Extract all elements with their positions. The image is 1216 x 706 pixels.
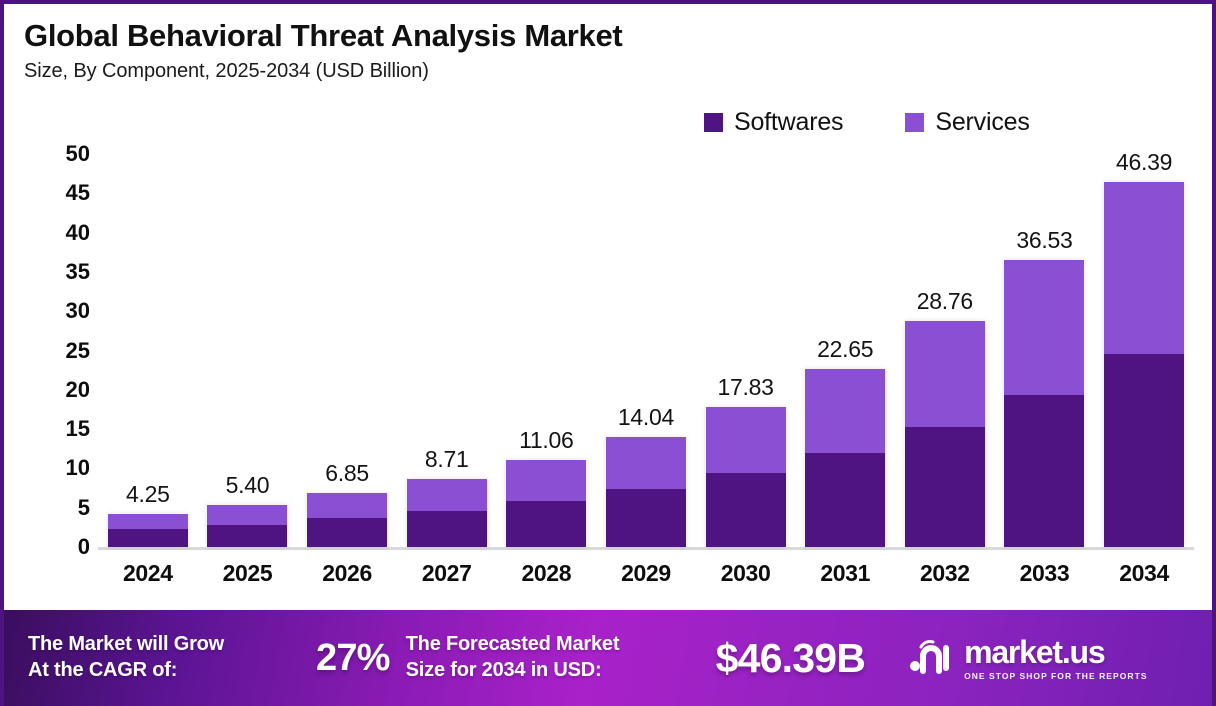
x-axis-tick: 2033 [998, 560, 1090, 594]
logo-text: market.us ONE STOP SHOP FOR THE REPORTS [964, 636, 1147, 681]
chart-infographic: Global Behavioral Threat Analysis Market… [0, 0, 1216, 706]
y-axis-tick: 20 [66, 377, 90, 403]
bar-value-label: 17.83 [718, 374, 774, 401]
bar-value-label: 14.04 [618, 404, 674, 431]
y-axis-tick: 5 [78, 495, 90, 521]
bar-group[interactable]: 4.25 [102, 122, 194, 547]
stacked-bar[interactable] [407, 479, 487, 547]
y-axis-tick: 15 [66, 416, 90, 442]
bar-group[interactable]: 46.39 [1098, 122, 1190, 547]
bar-value-label: 4.25 [126, 481, 170, 508]
bar-segment-softwares[interactable] [307, 518, 387, 547]
y-axis-tick: 35 [66, 259, 90, 285]
bar-segment-softwares[interactable] [805, 453, 885, 547]
cagr-caption-line1: The Market will Grow [28, 632, 308, 658]
bar-value-label: 8.71 [425, 446, 469, 473]
forecast-value: $46.39B [716, 635, 865, 682]
bar-segment-services[interactable] [207, 505, 287, 525]
bar-segment-softwares[interactable] [506, 501, 586, 547]
x-axis-tick: 2032 [899, 560, 991, 594]
x-axis-tick: 2025 [201, 560, 293, 594]
bar-segment-softwares[interactable] [108, 529, 188, 547]
bar-group[interactable]: 11.06 [500, 122, 592, 547]
logo-tagline: ONE STOP SHOP FOR THE REPORTS [964, 671, 1147, 681]
bar-segment-softwares[interactable] [1004, 395, 1084, 547]
bar-segment-softwares[interactable] [407, 511, 487, 547]
bar-series-container: 4.255.406.858.7111.0614.0417.8322.6528.7… [98, 122, 1194, 547]
bar-segment-services[interactable] [506, 460, 586, 501]
bar-value-label: 11.06 [519, 427, 573, 454]
market-us-logo-mark-icon [909, 638, 955, 679]
cagr-value: 27% [316, 637, 390, 680]
y-axis-tick: 45 [66, 180, 90, 206]
bar-group[interactable]: 8.71 [401, 122, 493, 547]
y-axis-tick: 0 [78, 534, 90, 560]
bar-segment-services[interactable] [905, 321, 985, 427]
bar-segment-services[interactable] [307, 493, 387, 518]
market-us-logo[interactable]: market.us ONE STOP SHOP FOR THE REPORTS [909, 636, 1147, 681]
bar-segment-softwares[interactable] [706, 473, 786, 547]
chart-header: Global Behavioral Threat Analysis Market… [4, 4, 1212, 83]
x-axis-tick: 2029 [600, 560, 692, 594]
page-title: Global Behavioral Threat Analysis Market [24, 18, 1212, 54]
bar-segment-services[interactable] [108, 514, 188, 530]
x-axis-line [98, 547, 1194, 550]
y-axis-tick: 30 [66, 298, 90, 324]
bar-value-label: 36.53 [1016, 227, 1072, 254]
stacked-bar[interactable] [207, 505, 287, 547]
bar-group[interactable]: 6.85 [301, 122, 393, 547]
bar-group[interactable]: 36.53 [998, 122, 1090, 547]
stacked-bar[interactable] [108, 514, 188, 547]
stacked-bar[interactable] [805, 369, 885, 547]
bar-segment-services[interactable] [407, 479, 487, 511]
forecast-caption: The Forecasted Market Size for 2034 in U… [406, 632, 706, 683]
forecast-caption-line2: Size for 2034 in USD: [406, 658, 706, 684]
bar-value-label: 5.40 [226, 472, 270, 499]
x-axis: 2024202520262027202820292030203120322033… [98, 560, 1194, 594]
bar-segment-services[interactable] [706, 407, 786, 473]
stacked-bar[interactable] [307, 493, 387, 547]
bar-segment-services[interactable] [606, 437, 686, 489]
x-axis-tick: 2034 [1098, 560, 1190, 594]
x-axis-tick: 2024 [102, 560, 194, 594]
y-axis: 05101520253035404550 [28, 122, 90, 547]
bar-group[interactable]: 17.83 [700, 122, 792, 547]
stacked-bar[interactable] [706, 407, 786, 547]
y-axis-tick: 10 [66, 455, 90, 481]
stacked-bar[interactable] [506, 460, 586, 547]
stacked-bar[interactable] [1004, 260, 1084, 547]
bar-group[interactable]: 5.40 [201, 122, 293, 547]
bar-segment-softwares[interactable] [606, 489, 686, 547]
chart-subtitle: Size, By Component, 2025-2034 (USD Billi… [24, 60, 1212, 83]
x-axis-tick: 2031 [799, 560, 891, 594]
bar-segment-softwares[interactable] [207, 525, 287, 547]
cagr-caption-line2: At the CAGR of: [28, 658, 308, 684]
x-axis-tick: 2027 [401, 560, 493, 594]
bar-group[interactable]: 14.04 [600, 122, 692, 547]
logo-wordmark: market.us [964, 636, 1147, 668]
x-axis-tick: 2026 [301, 560, 393, 594]
bar-value-label: 6.85 [325, 460, 369, 487]
y-axis-tick: 40 [66, 220, 90, 246]
x-axis-tick: 2030 [700, 560, 792, 594]
forecast-block: The Forecasted Market Size for 2034 in U… [390, 632, 865, 683]
bar-segment-services[interactable] [1104, 182, 1184, 353]
bar-segment-services[interactable] [805, 369, 885, 453]
stacked-bar[interactable] [606, 437, 686, 547]
bar-segment-softwares[interactable] [905, 427, 985, 547]
bar-value-label: 22.65 [817, 336, 873, 363]
forecast-caption-line1: The Forecasted Market [406, 632, 706, 658]
y-axis-tick: 25 [66, 338, 90, 364]
bar-segment-services[interactable] [1004, 260, 1084, 395]
bar-group[interactable]: 22.65 [799, 122, 891, 547]
bar-segment-softwares[interactable] [1104, 354, 1184, 547]
cagr-caption: The Market will Grow At the CAGR of: [28, 632, 308, 683]
cagr-block: The Market will Grow At the CAGR of: 27% [4, 632, 390, 683]
bar-group[interactable]: 28.76 [899, 122, 991, 547]
stacked-bar[interactable] [905, 321, 985, 547]
y-axis-tick: 50 [66, 141, 90, 167]
bar-value-label: 46.39 [1116, 149, 1172, 176]
bar-value-label: 28.76 [917, 288, 973, 315]
plot-area: 05101520253035404550 4.255.406.858.7111.… [4, 122, 1212, 557]
x-axis-tick: 2028 [500, 560, 592, 594]
stacked-bar[interactable] [1104, 182, 1184, 547]
summary-banner: The Market will Grow At the CAGR of: 27%… [4, 610, 1216, 706]
